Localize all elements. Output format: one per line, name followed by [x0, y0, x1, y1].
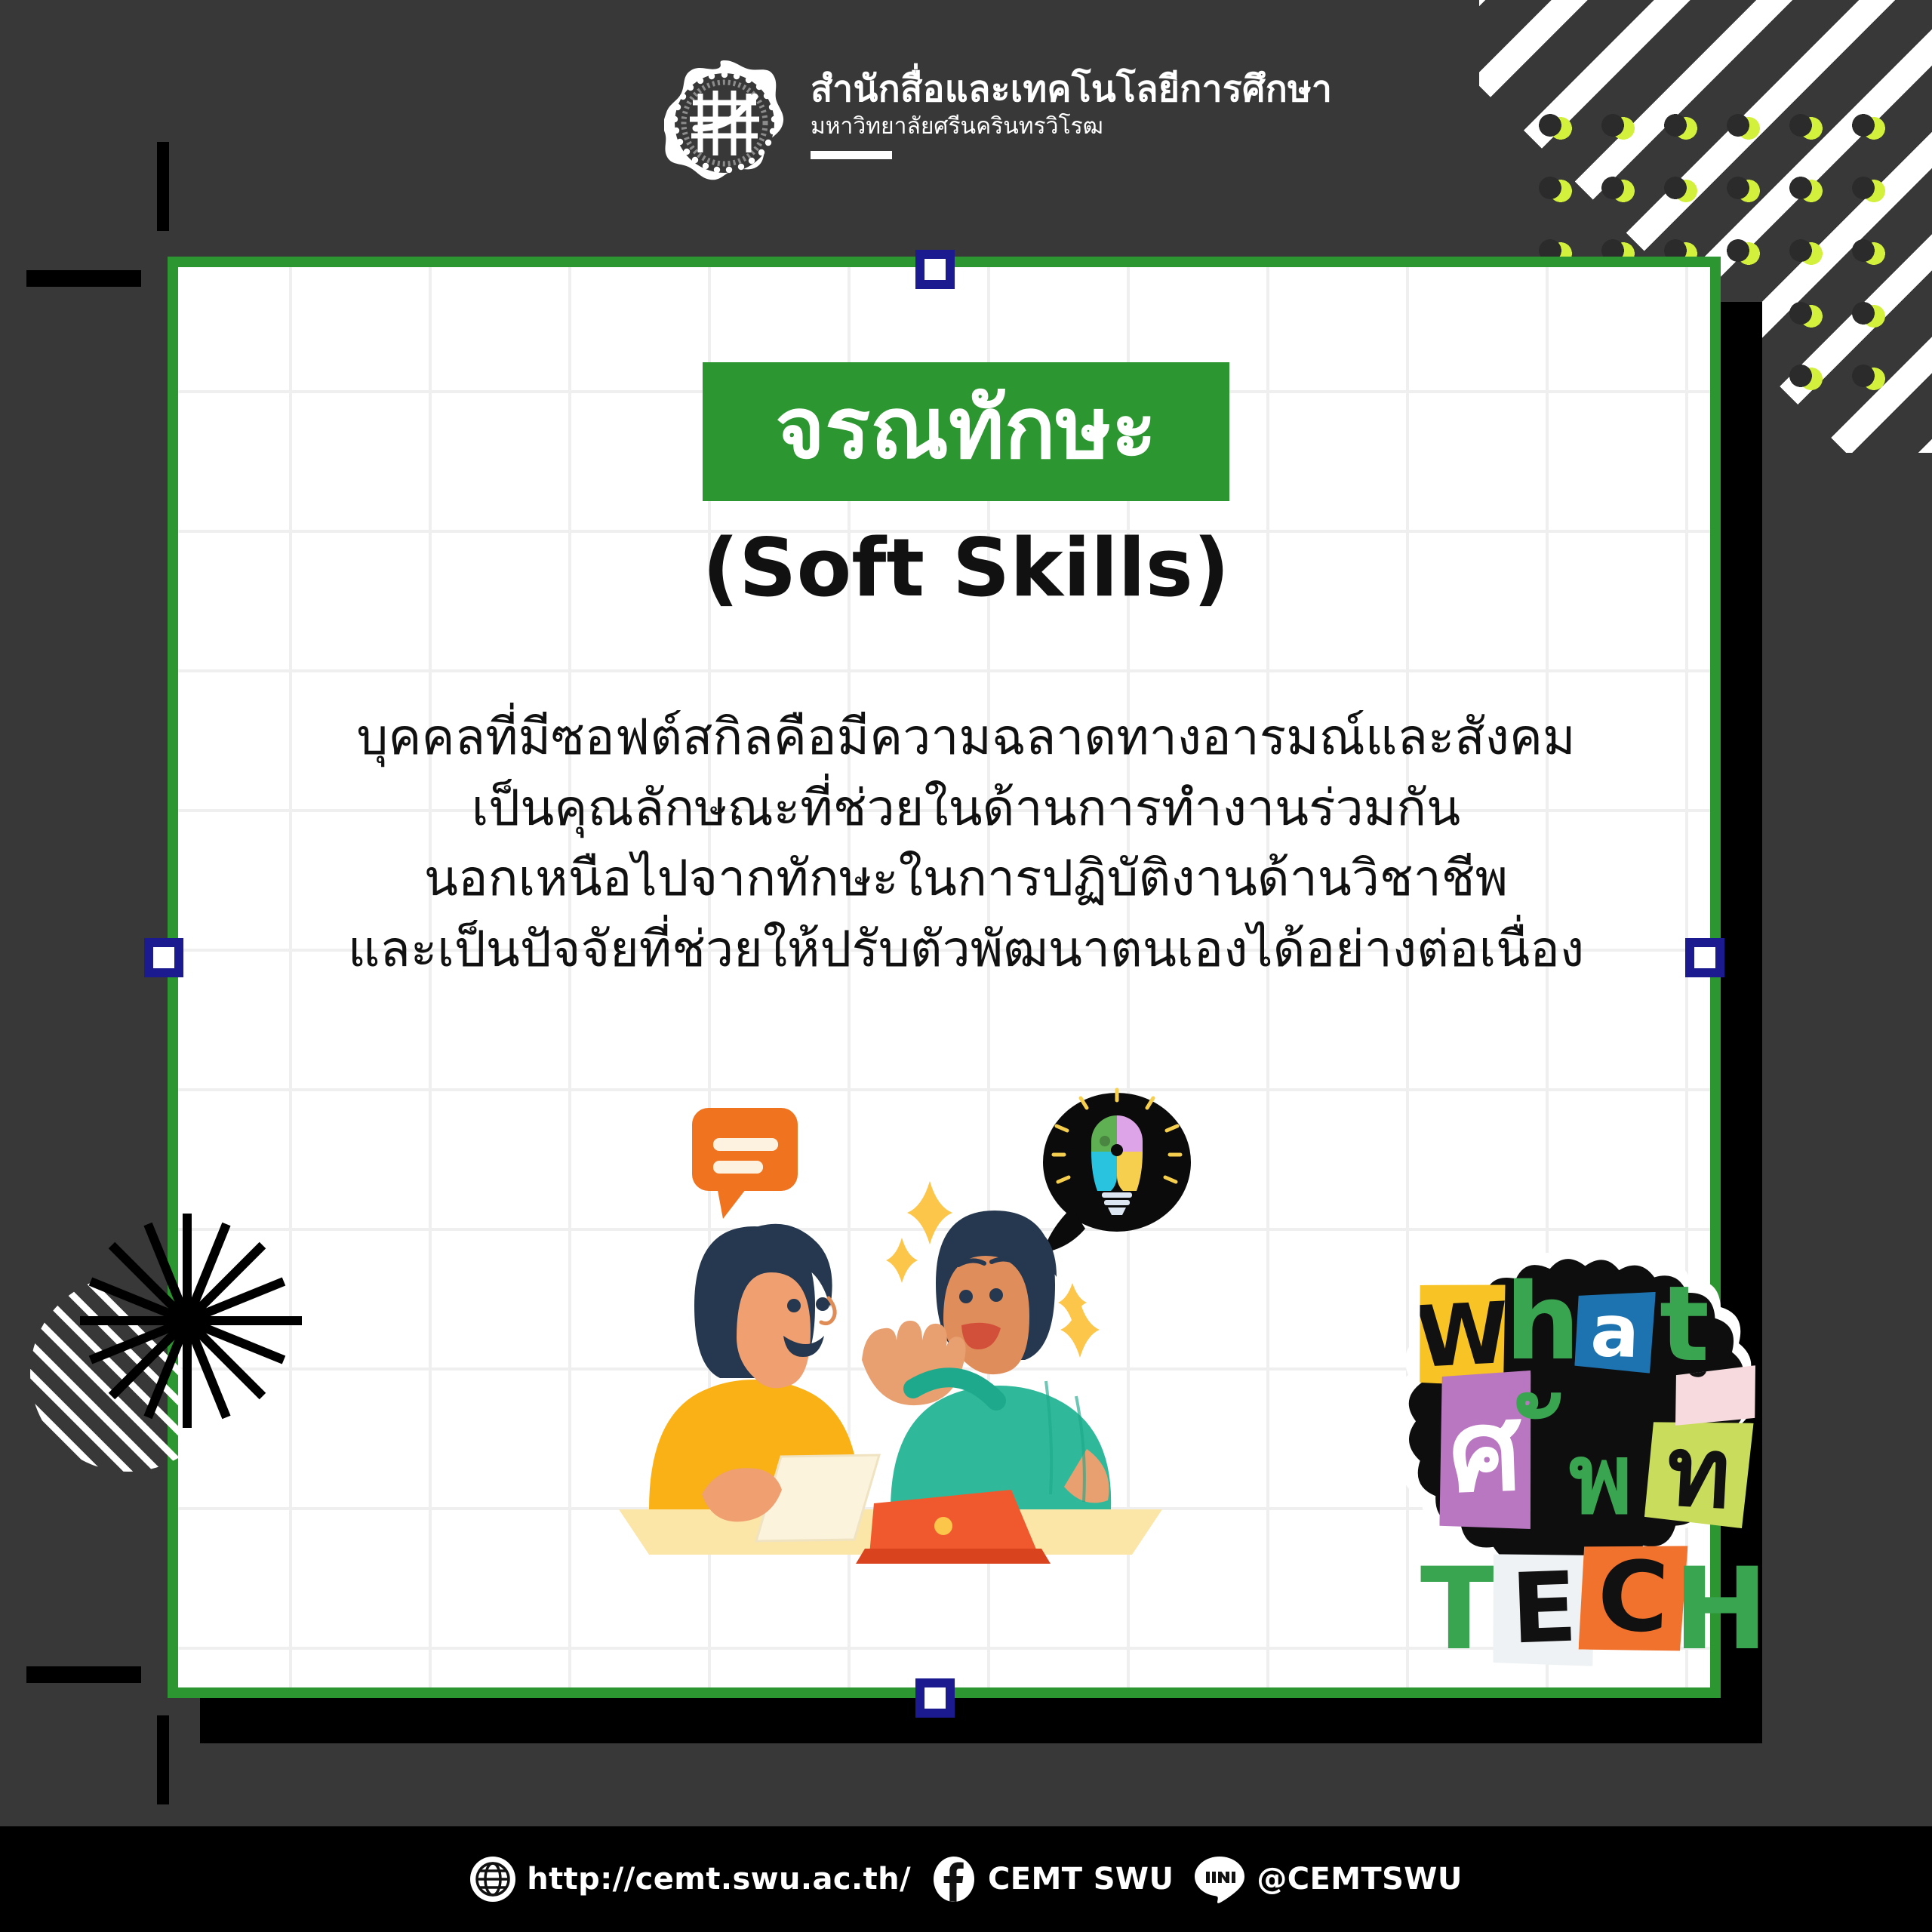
line-icon: [1193, 1855, 1246, 1903]
badge-letter-H: H: [1675, 1553, 1766, 1666]
footer-item-website[interactable]: http://cemt.swu.ac.th/: [469, 1856, 911, 1903]
paragraph-line: และเป็นปัจจัยที่ช่วยให้ปรับตัวพัฒนาตนเอง…: [0, 914, 1932, 985]
chat-bubble-icon: [692, 1108, 798, 1219]
selection-handle-top[interactable]: [915, 250, 955, 289]
corner-mark-bottom-left-vertical: [157, 1715, 169, 1804]
badge-letter-T: T: [1417, 1553, 1500, 1666]
paragraph-line: นอกเหนือไปจากทักษะในการปฏิบัติงานด้านวิช…: [0, 843, 1932, 914]
person-woman: [649, 1224, 879, 1541]
globe-icon: [469, 1856, 516, 1903]
title-block: จรณทักษะ (Soft Skills): [0, 362, 1932, 608]
badge-letters: W h a t ศ ั พ ท: [1374, 1253, 1872, 1781]
org-name: สำนักสื่อและเทคโนโลยีการศึกษา: [811, 69, 1332, 109]
org-titles: สำนักสื่อและเทคโนโลยีการศึกษา มหาวิทยาลั…: [811, 59, 1332, 159]
page-title-english: (Soft Skills): [0, 528, 1932, 608]
what-sap-tech-sticker: W h a t ศ ั พ ท: [1374, 1253, 1872, 1781]
lightbulb-puzzle-thought-bubble-icon: [1043, 1090, 1191, 1253]
starburst-decoration: [15, 1192, 340, 1517]
paragraph-line: บุคคลที่มีซอฟต์สกิลคือมีความฉลาดทางอารมณ…: [0, 702, 1932, 773]
badge-letter-pho: พ: [1552, 1431, 1650, 1529]
badge-letter-thanthakhat: ์: [1672, 1365, 1758, 1426]
footer-website-label: http://cemt.swu.ac.th/: [527, 1862, 911, 1897]
facebook-icon: [931, 1856, 977, 1903]
badge-letter-t: t: [1654, 1268, 1715, 1381]
header: สำนักสื่อและเทคโนโลยีการศึกษา มหาวิทยาลั…: [664, 59, 1332, 187]
corner-mark-top-left-horizontal: [26, 270, 141, 287]
badge-letter-tho: ท: [1644, 1417, 1753, 1528]
badge-letter-so: ศ: [1434, 1371, 1536, 1532]
paragraph-line: เป็นคุณลักษณะที่ช่วยในด้านการทำงานร่วมกั…: [0, 773, 1932, 844]
badge-letter-h: h: [1508, 1266, 1577, 1380]
badge-letter-a: a: [1574, 1289, 1656, 1374]
selection-handle-bottom[interactable]: [915, 1678, 955, 1718]
two-people-collaborating-illustration: [589, 1057, 1192, 1585]
footer-line-label: @CEMTSWU: [1257, 1862, 1462, 1897]
corner-mark-bottom-left-horizontal: [26, 1666, 141, 1683]
page-title-thai: จรณทักษะ: [703, 362, 1229, 501]
org-university: มหาวิทยาลัยศรีนครินทรวิโรฒ: [811, 114, 1332, 139]
footer-item-facebook[interactable]: CEMT SWU: [931, 1856, 1174, 1903]
footer-bar: http://cemt.swu.ac.th/ CEMT SWU @CEMTSWU: [0, 1826, 1932, 1932]
body-paragraph: บุคคลที่มีซอฟต์สกิลคือมีความฉลาดทางอารมณ…: [0, 702, 1932, 985]
footer-item-line[interactable]: @CEMTSWU: [1193, 1855, 1462, 1903]
corner-mark-top-left-vertical: [157, 142, 169, 231]
swu-seal-icon: [664, 59, 785, 187]
badge-letter-C: C: [1579, 1543, 1688, 1654]
footer-facebook-label: CEMT SWU: [988, 1862, 1174, 1897]
infographic-canvas: สำนักสื่อและเทคโนโลยีการศึกษา มหาวิทยาลั…: [0, 0, 1932, 1932]
org-underline: [811, 151, 892, 159]
